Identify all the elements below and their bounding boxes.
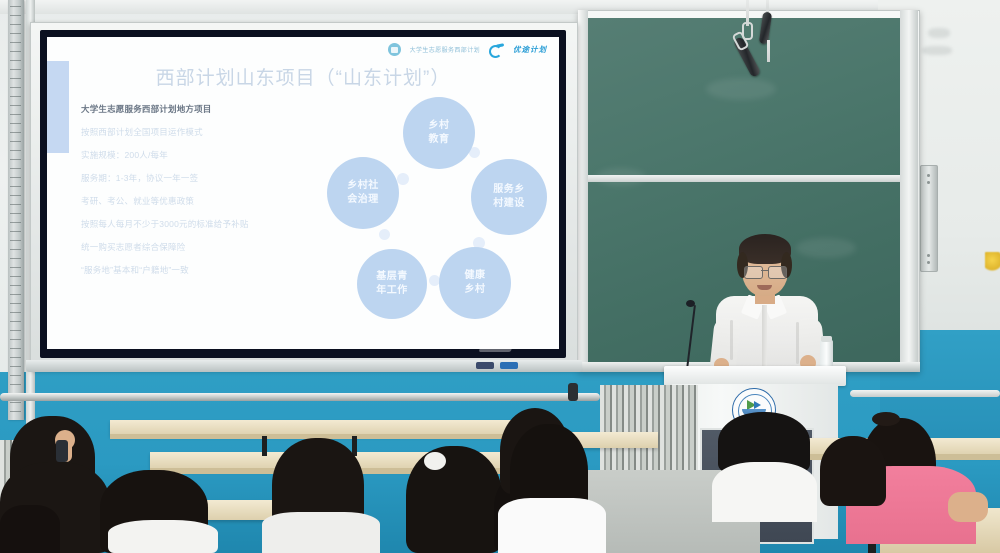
- presenter-shirt-fold: [796, 322, 799, 364]
- xibu-jihua-logo-icon: [388, 43, 401, 56]
- wall-smudge-1: [928, 28, 950, 38]
- bubble-line-2: 教育: [429, 133, 450, 148]
- slide-diagram: 乡村 教育 服务乡 村建设 健康 乡村 基层青 年工作 乡村社 会治理: [321, 97, 559, 337]
- presenter-glasses-left-lens: [744, 266, 763, 279]
- presenter-glasses-bridge: [761, 270, 768, 271]
- bubble-line-1: 乡村: [429, 119, 450, 134]
- presenter-shirt-placket: [762, 305, 767, 371]
- youtu-jihua-logo-text: 优途计划: [513, 44, 547, 55]
- slide-title: 西部计划山东项目（“山东计划”）: [47, 63, 559, 90]
- marker-black[interactable]: [476, 362, 494, 369]
- whiteboard-marker-tray: [26, 360, 582, 372]
- bubble-line-1: 乡村社: [347, 179, 379, 194]
- projected-slide[interactable]: 大学生志愿服务西部计划 优途计划 西部计划山东项目（“山东计划”） 大学生志愿服…: [47, 37, 559, 349]
- podium-top: [664, 366, 846, 386]
- classroom-scene: 大学生志愿服务西部计划 优途计划 西部计划山东项目（“山东计划”） 大学生志愿服…: [0, 0, 1000, 553]
- wall-pipe-horizontal-right: [850, 390, 1000, 397]
- diagram-bubble-fuwu-xiangcun-jianshe: 服务乡 村建设: [471, 159, 547, 235]
- bubble-line-2: 村建设: [493, 197, 525, 212]
- slide-bullet-list: 大学生志愿服务西部计划地方项目 按照西部计划全国项目运作模式 实施规模：200人…: [81, 105, 331, 289]
- hair-clip: [424, 452, 446, 470]
- diagram-bubble-jiceng-qingnian-gongzuo: 基层青 年工作: [357, 249, 427, 319]
- mic-cable-3: [767, 40, 770, 62]
- presenter-shirt-fold: [730, 320, 733, 360]
- slide-bullet: 统一购买志愿者综合保障险: [81, 243, 331, 252]
- bubble-line-1: 服务乡: [493, 183, 525, 198]
- slide-bullet: 按照西部计划全国项目运作模式: [81, 128, 331, 137]
- diagram-dot: [397, 173, 409, 185]
- slide-bullet: 大学生志愿服务西部计划地方项目: [81, 105, 331, 114]
- wall-rail-ticks: [10, 6, 21, 414]
- blackboard-edge-right: [900, 10, 918, 370]
- pipe-hook: [568, 383, 578, 401]
- diagram-bubble-jiankang-xiangcun: 健康 乡村: [439, 247, 511, 319]
- desk-leg: [262, 436, 267, 456]
- bubble-line-1: 基层青: [376, 270, 408, 285]
- wall-pipe-horizontal: [0, 393, 600, 401]
- yellow-decor: [985, 252, 1000, 272]
- blackboard-divider: [586, 175, 910, 182]
- wall-bracket: [920, 165, 938, 272]
- water-bottle-cap: [821, 336, 832, 342]
- slide-bullet: 考研、考公、就业等优惠政策: [81, 197, 331, 206]
- slide-bullet: 按照每人每月不少于3000元的标准给予补贴: [81, 220, 331, 229]
- whiteboard-logo-scrawl: [479, 344, 514, 352]
- slide-bullet: 服务期：1-3年，协议一年一签: [81, 174, 331, 183]
- slide-bullet: 实施规模：200人/每年: [81, 151, 331, 160]
- xibu-jihua-logo-text: 大学生志愿服务西部计划: [410, 45, 480, 54]
- bubble-line-2: 年工作: [376, 284, 408, 299]
- slide-logos: 大学生志愿服务西部计划 优途计划: [388, 43, 547, 56]
- blackboard-edge-left: [578, 10, 588, 370]
- marker-blue[interactable]: [500, 362, 518, 369]
- presenter-glasses-right-lens: [768, 266, 787, 279]
- bubble-line-2: 会治理: [347, 193, 379, 208]
- wall-smudge-2: [922, 46, 952, 55]
- diagram-bubble-xiangcun-jiaoyu: 乡村 教育: [403, 97, 475, 169]
- podium-mic-head: [686, 300, 695, 307]
- diagram-dot: [379, 229, 390, 240]
- diagram-bubble-xiangcun-shehui-zhili: 乡村社 会治理: [327, 157, 399, 229]
- slide-bullet: “服务地”基本和“户籍地”一致: [81, 266, 331, 275]
- bubble-line-1: 健康: [465, 269, 486, 284]
- youtu-jihua-logo-icon: [489, 44, 504, 55]
- bubble-line-2: 乡村: [465, 283, 486, 298]
